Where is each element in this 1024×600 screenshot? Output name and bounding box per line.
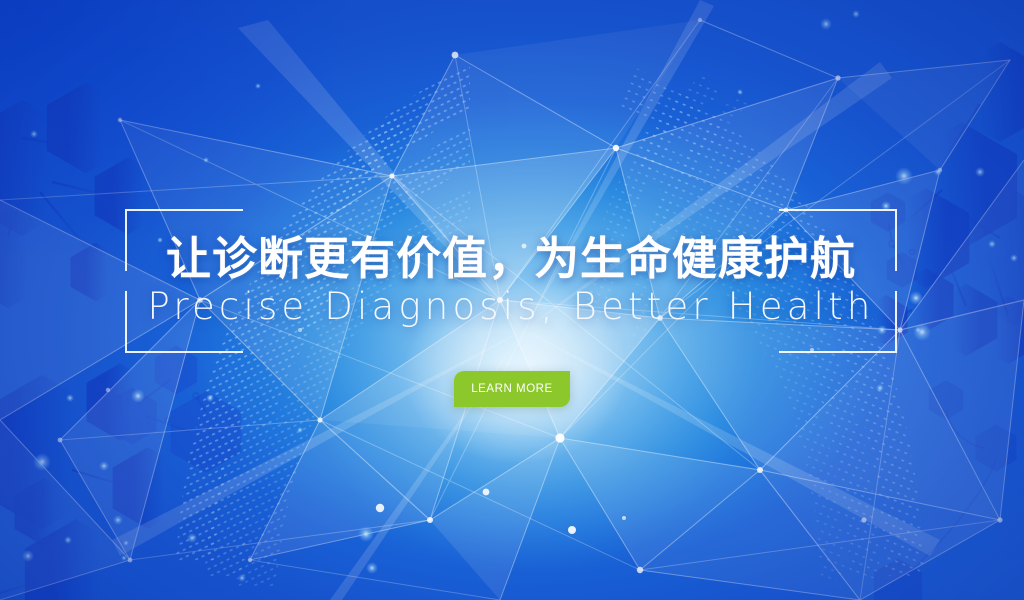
learn-more-button[interactable]: LEARN MORE <box>454 371 570 407</box>
headline-english: Precise Diagnosis, Better Health <box>148 288 875 327</box>
hero-copy: 让诊断更有价值，为生命健康护航 Precise Diagnosis, Bette… <box>125 209 897 353</box>
cta-container: LEARN MORE <box>0 371 1024 407</box>
hero-banner: 让诊断更有价值，为生命健康护航 Precise Diagnosis, Bette… <box>0 0 1024 600</box>
headline-chinese: 让诊断更有价值，为生命健康护航 <box>166 235 856 284</box>
